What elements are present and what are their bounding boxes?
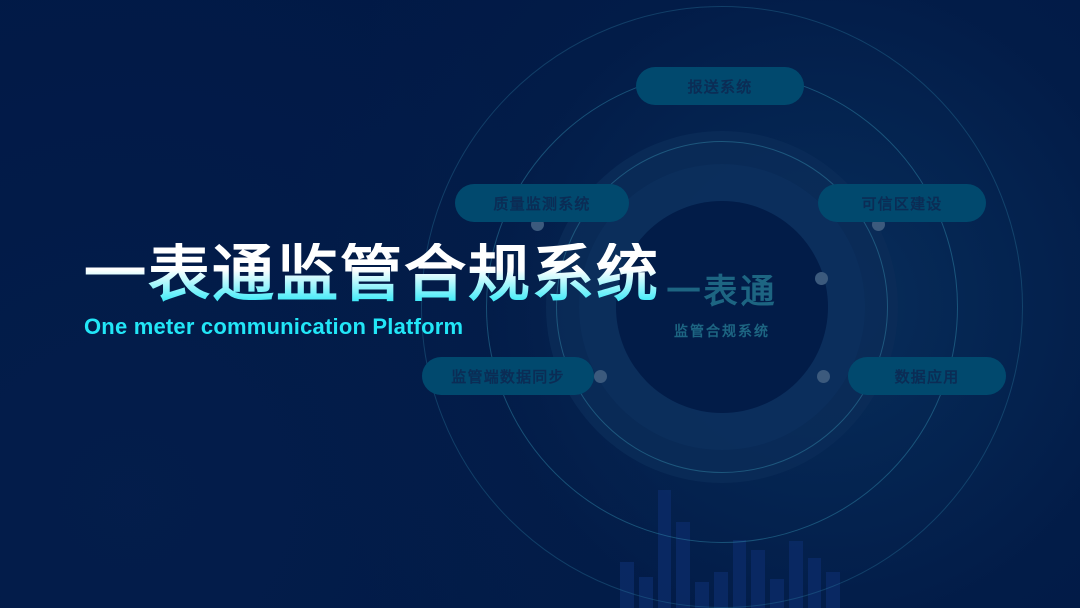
node-pill-quality[interactable]: 质量监测系统: [455, 184, 629, 222]
bar-11: [808, 558, 822, 608]
connector-dot-upper-right: [815, 272, 828, 285]
background-bar-chart: [620, 488, 840, 608]
bar-10: [789, 541, 803, 608]
bar-1: [620, 562, 634, 608]
hub-subtitle: 监管合规系统: [667, 321, 778, 341]
node-pill-trust[interactable]: 可信区建设: [818, 184, 986, 222]
bar-12: [826, 572, 840, 608]
bar-3: [658, 490, 672, 608]
connector-dot-sync-inner: [594, 370, 607, 383]
slide-canvas: 一表通 监管合规系统 报送系统 质量监测系统 可信区建设 监管端数据同步 数据应…: [0, 0, 1080, 608]
node-pill-report[interactable]: 报送系统: [636, 67, 804, 105]
bar-4: [676, 522, 690, 608]
hub-title: 一表通: [667, 273, 778, 312]
page-subtitle: One meter communication Platform: [84, 314, 660, 340]
hub-label: 一表通 监管合规系统: [667, 273, 778, 341]
headline-block: 一表通监管合规系统 One meter communication Platfo…: [84, 243, 660, 340]
bar-9: [770, 579, 784, 608]
bar-6: [714, 572, 728, 608]
bar-8: [751, 550, 765, 608]
node-pill-data[interactable]: 数据应用: [848, 357, 1006, 395]
bar-7: [733, 540, 747, 608]
connector-dot-data-inner: [817, 370, 830, 383]
bar-5: [695, 582, 709, 608]
bar-2: [639, 577, 653, 608]
page-title: 一表通监管合规系统: [84, 243, 660, 306]
node-pill-sync[interactable]: 监管端数据同步: [422, 357, 594, 395]
